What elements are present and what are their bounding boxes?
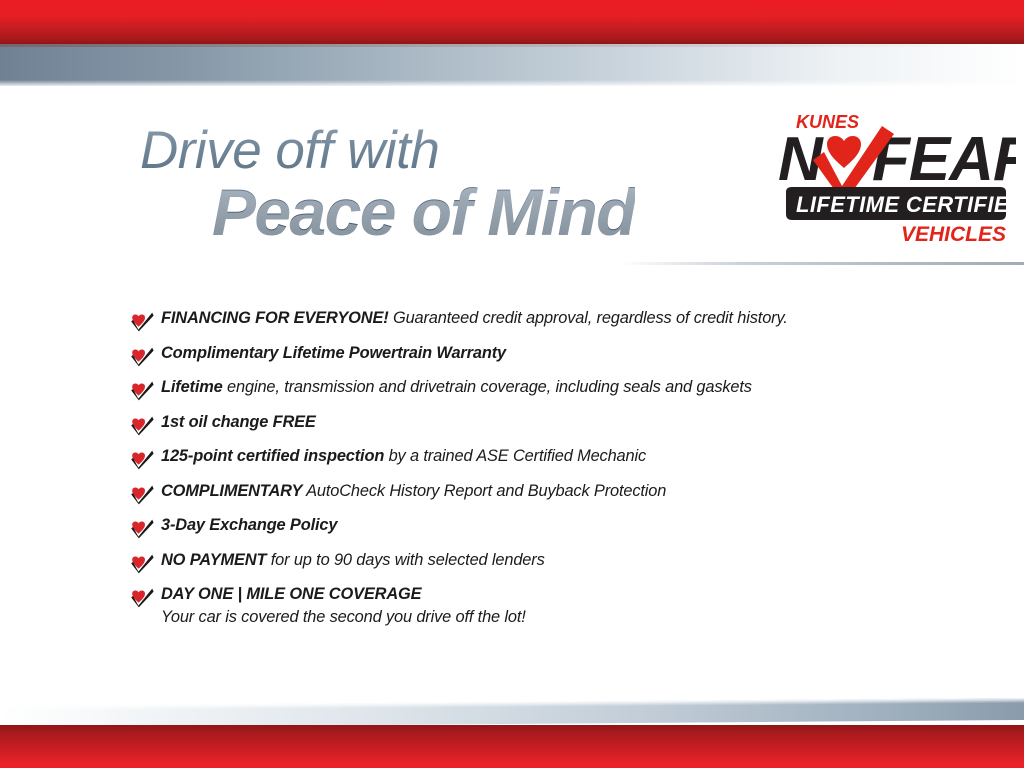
- benefit-detail: for up to 90 days with selected lenders: [266, 551, 544, 569]
- benefit-lead: 1st oil change FREE: [161, 413, 316, 431]
- benefit-item: Complimentary Lifetime Powertrain Warran…: [130, 343, 930, 367]
- benefit-detail: by a trained ASE Certified Mechanic: [384, 447, 646, 465]
- benefit-item: 1st oil change FREE: [130, 412, 930, 436]
- heart-check-icon: [130, 415, 154, 436]
- benefit-lead: NO PAYMENT: [161, 551, 266, 569]
- heart-check-icon: [130, 380, 154, 401]
- page-title: Drive off with Peace of Mind: [140, 124, 635, 245]
- benefit-item: FINANCING FOR EVERYONE! Guaranteed credi…: [130, 308, 930, 332]
- benefit-lead: Complimentary Lifetime Powertrain Warran…: [161, 344, 506, 362]
- heart-check-icon: [130, 449, 154, 470]
- benefit-text: 125-point certified inspection by a trai…: [161, 446, 646, 467]
- benefit-lead: Lifetime: [161, 378, 223, 396]
- benefit-item: 3-Day Exchange Policy: [130, 515, 930, 539]
- benefit-item: DAY ONE | MILE ONE COVERAGEYour car is c…: [130, 584, 930, 628]
- bottom-gray-band: [0, 698, 1024, 728]
- benefit-item: COMPLIMENTARY AutoCheck History Report a…: [130, 481, 930, 505]
- benefit-detail: engine, transmission and drivetrain cove…: [223, 378, 752, 396]
- benefits-list: FINANCING FOR EVERYONE! Guaranteed credi…: [130, 308, 930, 639]
- benefit-text: 1st oil change FREE: [161, 412, 316, 433]
- benefit-text: NO PAYMENT for up to 90 days with select…: [161, 550, 545, 571]
- benefit-detail: Guaranteed credit approval, regardless o…: [389, 309, 788, 327]
- headline-line-1: Drive off with: [140, 124, 635, 177]
- benefit-text: Complimentary Lifetime Powertrain Warran…: [161, 343, 506, 364]
- benefit-subtext: Your car is covered the second you drive…: [161, 607, 526, 628]
- logo-bar-text: LIFETIME CERTIFIED: [796, 192, 1016, 217]
- benefit-item: Lifetime engine, transmission and drivet…: [130, 377, 930, 401]
- benefit-text: COMPLIMENTARY AutoCheck History Report a…: [161, 481, 666, 502]
- top-gray-band: [0, 44, 1024, 86]
- benefit-item: NO PAYMENT for up to 90 days with select…: [130, 550, 930, 574]
- heart-check-icon: [130, 553, 154, 574]
- heart-check-icon: [130, 587, 154, 608]
- benefit-text: 3-Day Exchange Policy: [161, 515, 337, 536]
- benefit-text: Lifetime engine, transmission and drivet…: [161, 377, 752, 398]
- benefit-lead: 3-Day Exchange Policy: [161, 516, 337, 534]
- heart-check-icon: [130, 484, 154, 505]
- benefit-item: 125-point certified inspection by a trai…: [130, 446, 930, 470]
- benefit-lead: DAY ONE | MILE ONE COVERAGE: [161, 585, 421, 603]
- benefit-detail: AutoCheck History Report and Buyback Pro…: [302, 482, 666, 500]
- top-red-band: [0, 0, 1024, 44]
- heart-check-icon: [130, 311, 154, 332]
- benefit-lead: FINANCING FOR EVERYONE!: [161, 309, 389, 327]
- benefit-lead: 125-point certified inspection: [161, 447, 384, 465]
- heart-check-icon: [130, 518, 154, 539]
- benefit-text: DAY ONE | MILE ONE COVERAGEYour car is c…: [161, 584, 526, 628]
- header-divider: [620, 262, 1024, 265]
- logo-vehicles-text: VEHICLES: [901, 223, 1006, 246]
- logo-heart-icon: [827, 136, 861, 168]
- benefit-text: FINANCING FOR EVERYONE! Guaranteed credi…: [161, 308, 788, 329]
- promotional-poster: Drive off with Peace of Mind KUNES N FEA…: [0, 0, 1024, 768]
- benefit-lead: COMPLIMENTARY: [161, 482, 302, 500]
- headline-line-2: Peace of Mind: [212, 179, 635, 245]
- logo-word-fear: FEAR: [872, 125, 1016, 194]
- heart-check-icon: [130, 346, 154, 367]
- bottom-red-band: [0, 725, 1024, 768]
- kunes-no-fear-logo: KUNES N FEAR LIFETIME CERTIFIED VEHICLES: [772, 108, 1016, 248]
